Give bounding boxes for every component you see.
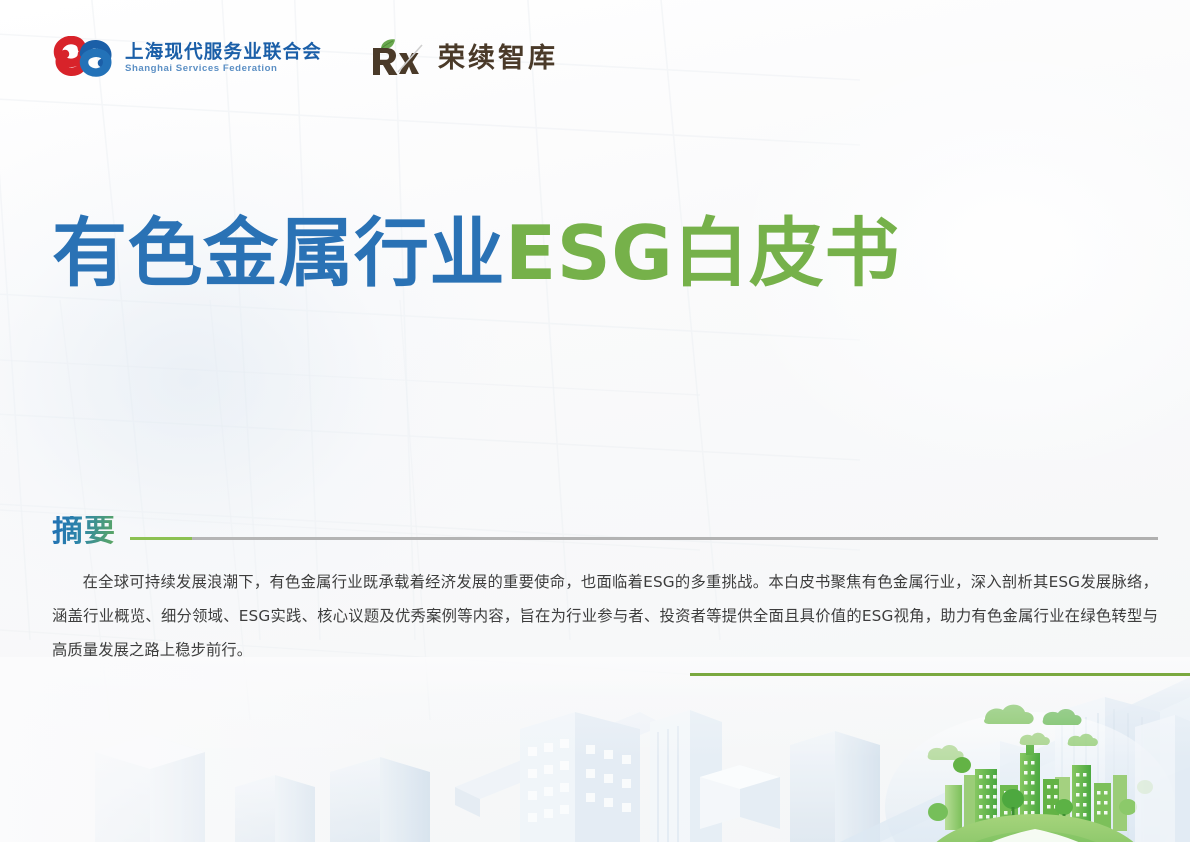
abstract-heading-row: 摘要 [52,505,1158,549]
double-loop-infinity-logo-icon [52,36,114,80]
page-title: 有色金属行业ESG白皮书 [52,213,900,294]
federation-name-cn: 上海现代服务业联合会 [125,42,322,61]
bottom-illustration [0,657,1190,842]
r-leaf-monogram-icon [368,38,424,78]
logo-rongxu-think-tank: 荣续智库 [368,38,558,78]
abstract-underline [690,673,1190,676]
federation-name-en: Shanghai Services Federation [125,64,322,74]
page-title-segment-blue: 有色金属行业 [52,209,505,297]
cover-page: 上海现代服务业联合会 Shanghai Services Federation … [0,0,1190,842]
isometric-green-city-icon [0,657,1190,842]
logo-bar: 上海现代服务业联合会 Shanghai Services Federation … [52,36,558,80]
abstract-section: 摘要 在全球可持续发展浪潮下，有色金属行业既承载着经济发展的重要使命，也面临着E… [52,505,1158,667]
abstract-heading-rule [130,537,1158,540]
federation-name-block: 上海现代服务业联合会 Shanghai Services Federation [125,42,322,73]
abstract-heading: 摘要 [52,516,116,549]
abstract-body-text: 在全球可持续发展浪潮下，有色金属行业既承载着经济发展的重要使命，也面临着ESG的… [52,565,1158,667]
page-title-segment-green: ESG白皮书 [505,209,900,297]
think-tank-name-cn: 荣续智库 [438,45,558,72]
logo-shanghai-services-federation: 上海现代服务业联合会 Shanghai Services Federation [52,36,322,80]
